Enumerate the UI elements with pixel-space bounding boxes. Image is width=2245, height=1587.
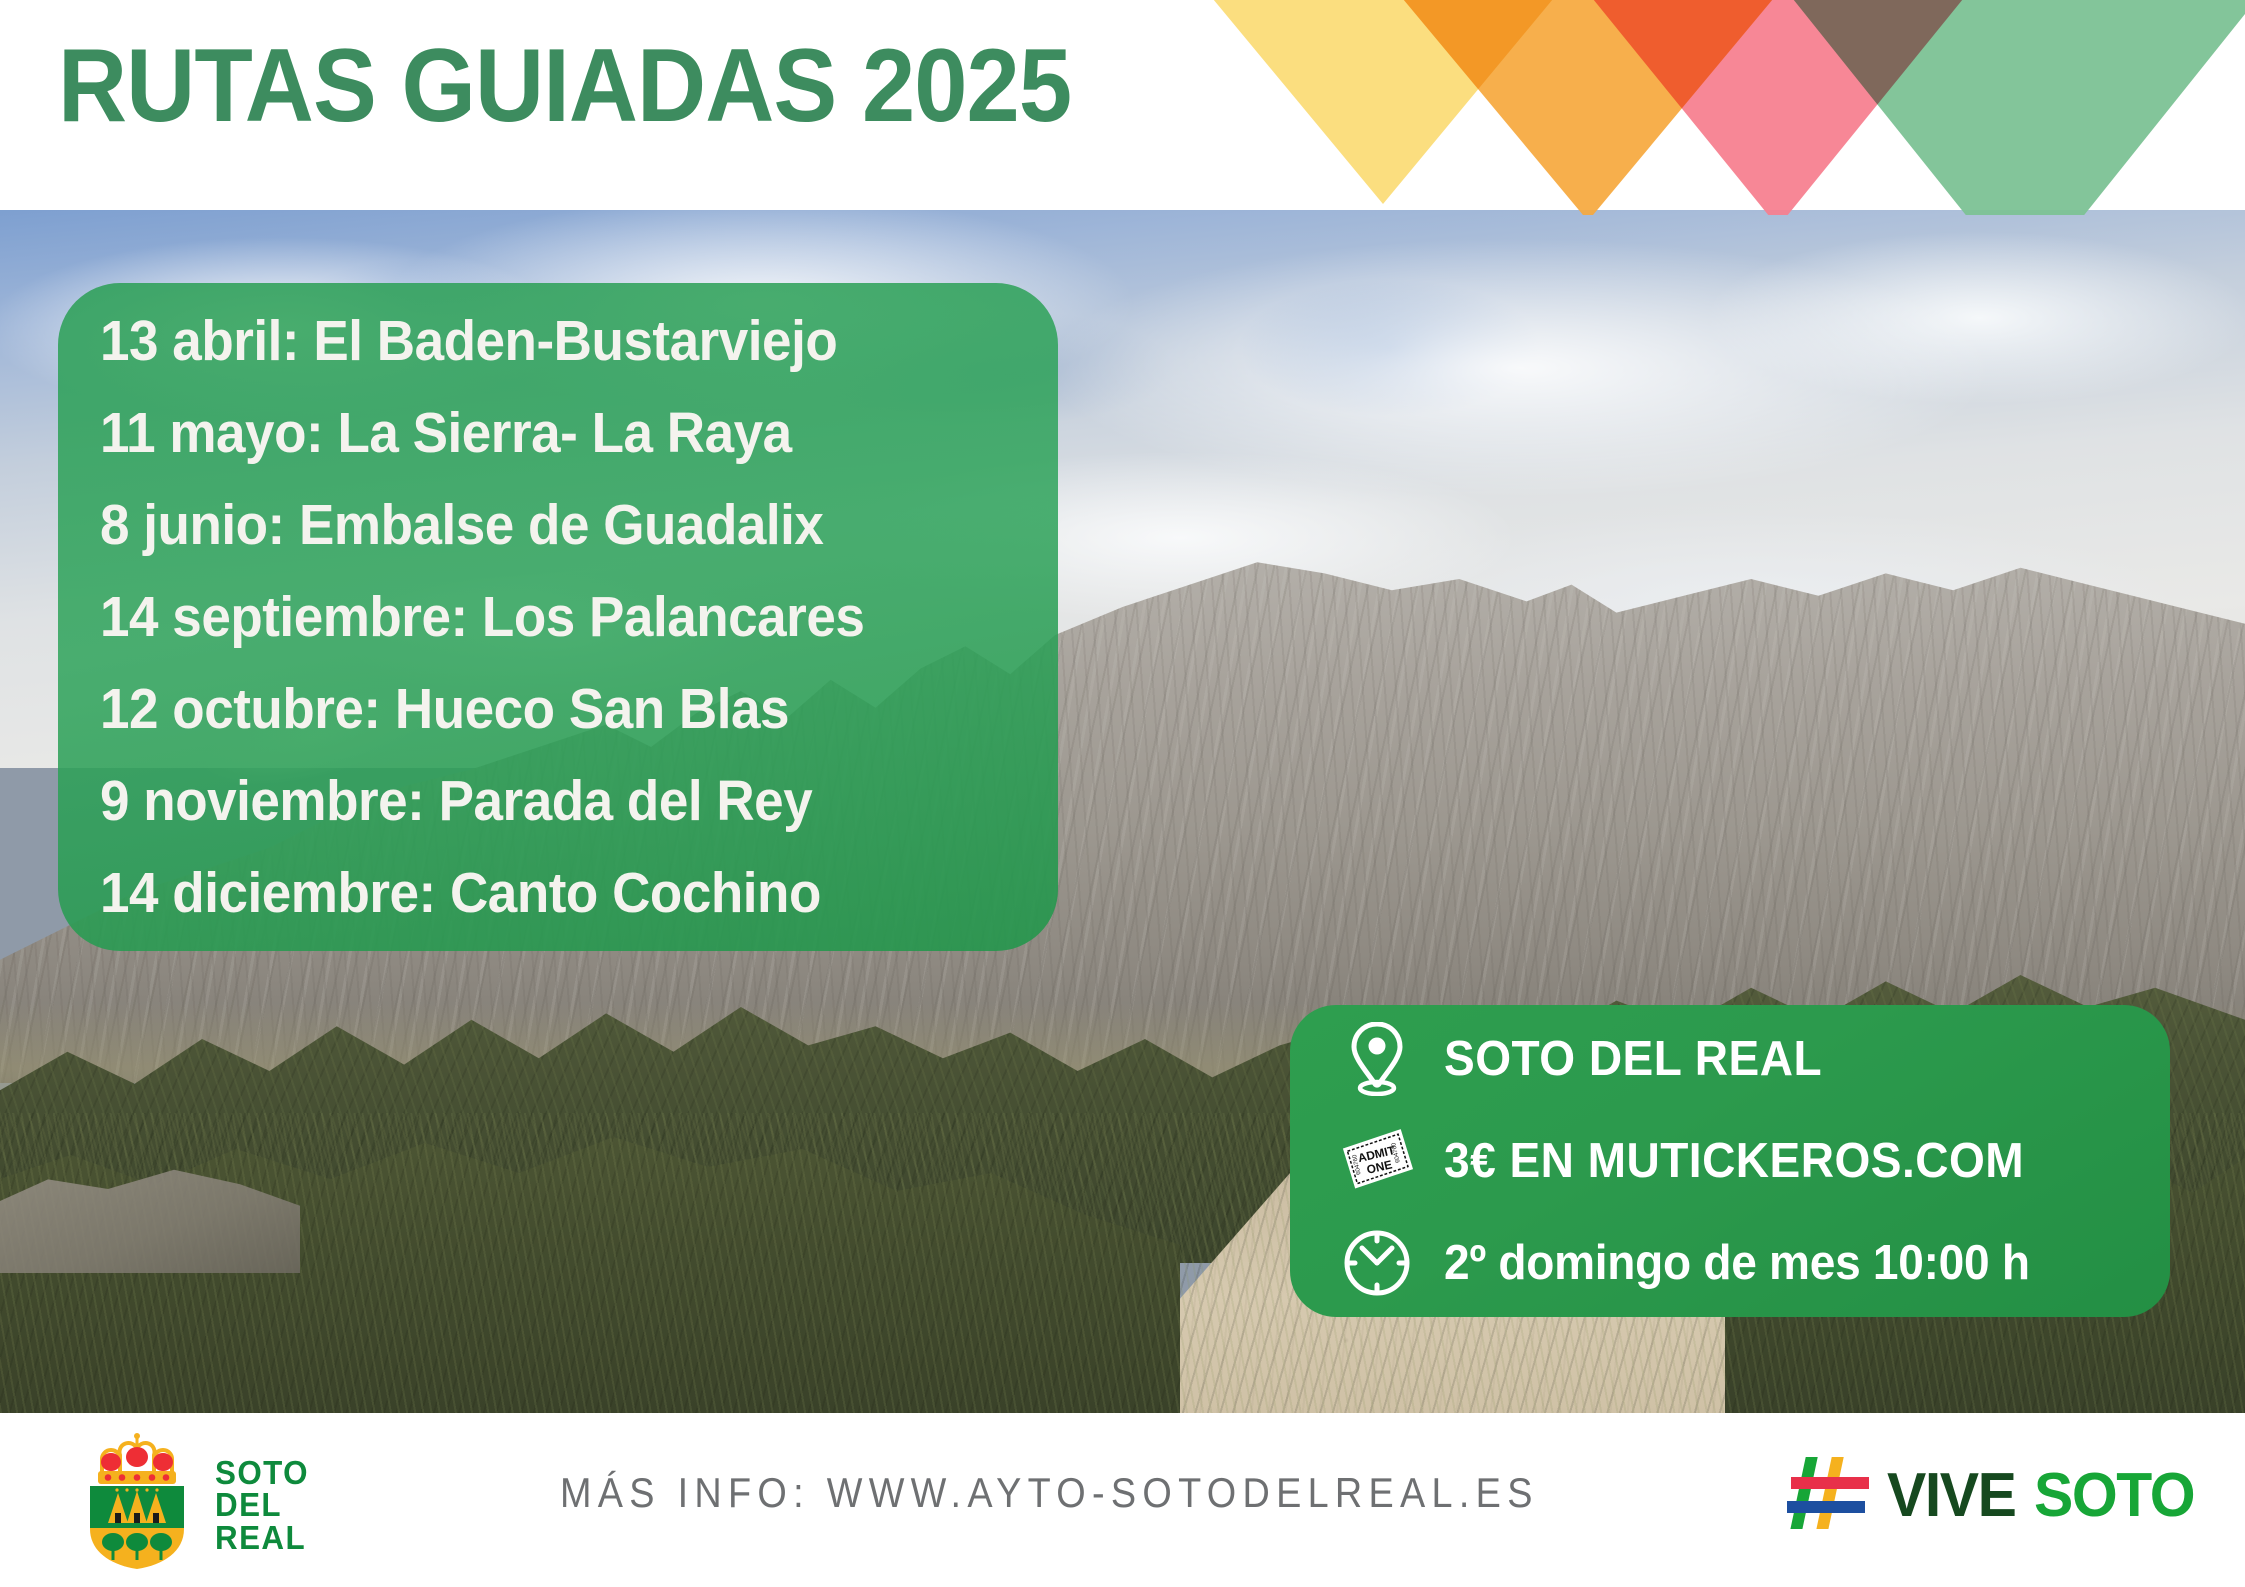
info-row-price: ADMIT ONE 604760 604760 3€ EN MUTICKEROS… — [1340, 1121, 2170, 1201]
info-details-box: SOTO DEL REAL ADMIT ONE 604760 604760 3€… — [1290, 1005, 2170, 1317]
route-item: 9 noviembre: Parada del Rey — [100, 755, 991, 847]
brand-text-soto: SOTO — [2034, 1460, 2194, 1531]
info-row-schedule: 2º domingo de mes 10:00 h — [1340, 1223, 2170, 1303]
vivesoto-brand-logo[interactable]: VIVE SOTO — [1783, 1451, 2203, 1540]
clock-icon — [1340, 1223, 1414, 1303]
info-location-text: SOTO DEL REAL — [1444, 1031, 1822, 1087]
page-title: RUTAS GUIADAS 2025 — [58, 34, 1071, 138]
crest-word-del: DEL — [215, 1489, 309, 1521]
soto-del-real-coat-of-arms-icon — [62, 1429, 212, 1571]
footer-bar: SOTO DEL REAL MÁS INFO: WWW.AYTO-SOTODEL… — [0, 1413, 2245, 1587]
route-item: 11 mayo: La Sierra- La Raya — [100, 387, 991, 479]
route-item: 12 octubre: Hueco San Blas — [100, 663, 991, 755]
info-row-location: SOTO DEL REAL — [1340, 1019, 2170, 1099]
crest-word-real: REAL — [215, 1522, 309, 1554]
info-schedule-text: 2º domingo de mes 10:00 h — [1444, 1235, 2030, 1291]
info-price-text: 3€ EN MUTICKEROS.COM — [1444, 1133, 2024, 1189]
routes-list-box: 13 abril: El Baden-Bustarviejo 11 mayo: … — [58, 283, 1058, 951]
crest-word-soto: SOTO — [215, 1457, 309, 1489]
route-item: 14 diciembre: Canto Cochino — [100, 847, 991, 939]
route-item: 14 septiembre: Los Palancares — [100, 571, 991, 663]
crest-wordmark: SOTO DEL REAL — [215, 1457, 309, 1554]
more-info-website[interactable]: MÁS INFO: WWW.AYTO-SOTODELREAL.ES — [560, 1469, 1539, 1517]
admit-one-ticket-icon: ADMIT ONE 604760 604760 — [1340, 1121, 1414, 1201]
route-item: 13 abril: El Baden-Bustarviejo — [100, 295, 991, 387]
brand-text-vive: VIVE — [1887, 1460, 2016, 1531]
hashtag-icon — [1783, 1451, 1875, 1540]
poster-root: RUTAS GUIADAS 2025 13 abril: El Baden-Bu… — [0, 0, 2245, 1587]
location-pin-icon — [1340, 1019, 1414, 1099]
route-item: 8 junio: Embalse de Guadalix — [100, 479, 991, 571]
header-bar: RUTAS GUIADAS 2025 — [0, 0, 2245, 210]
